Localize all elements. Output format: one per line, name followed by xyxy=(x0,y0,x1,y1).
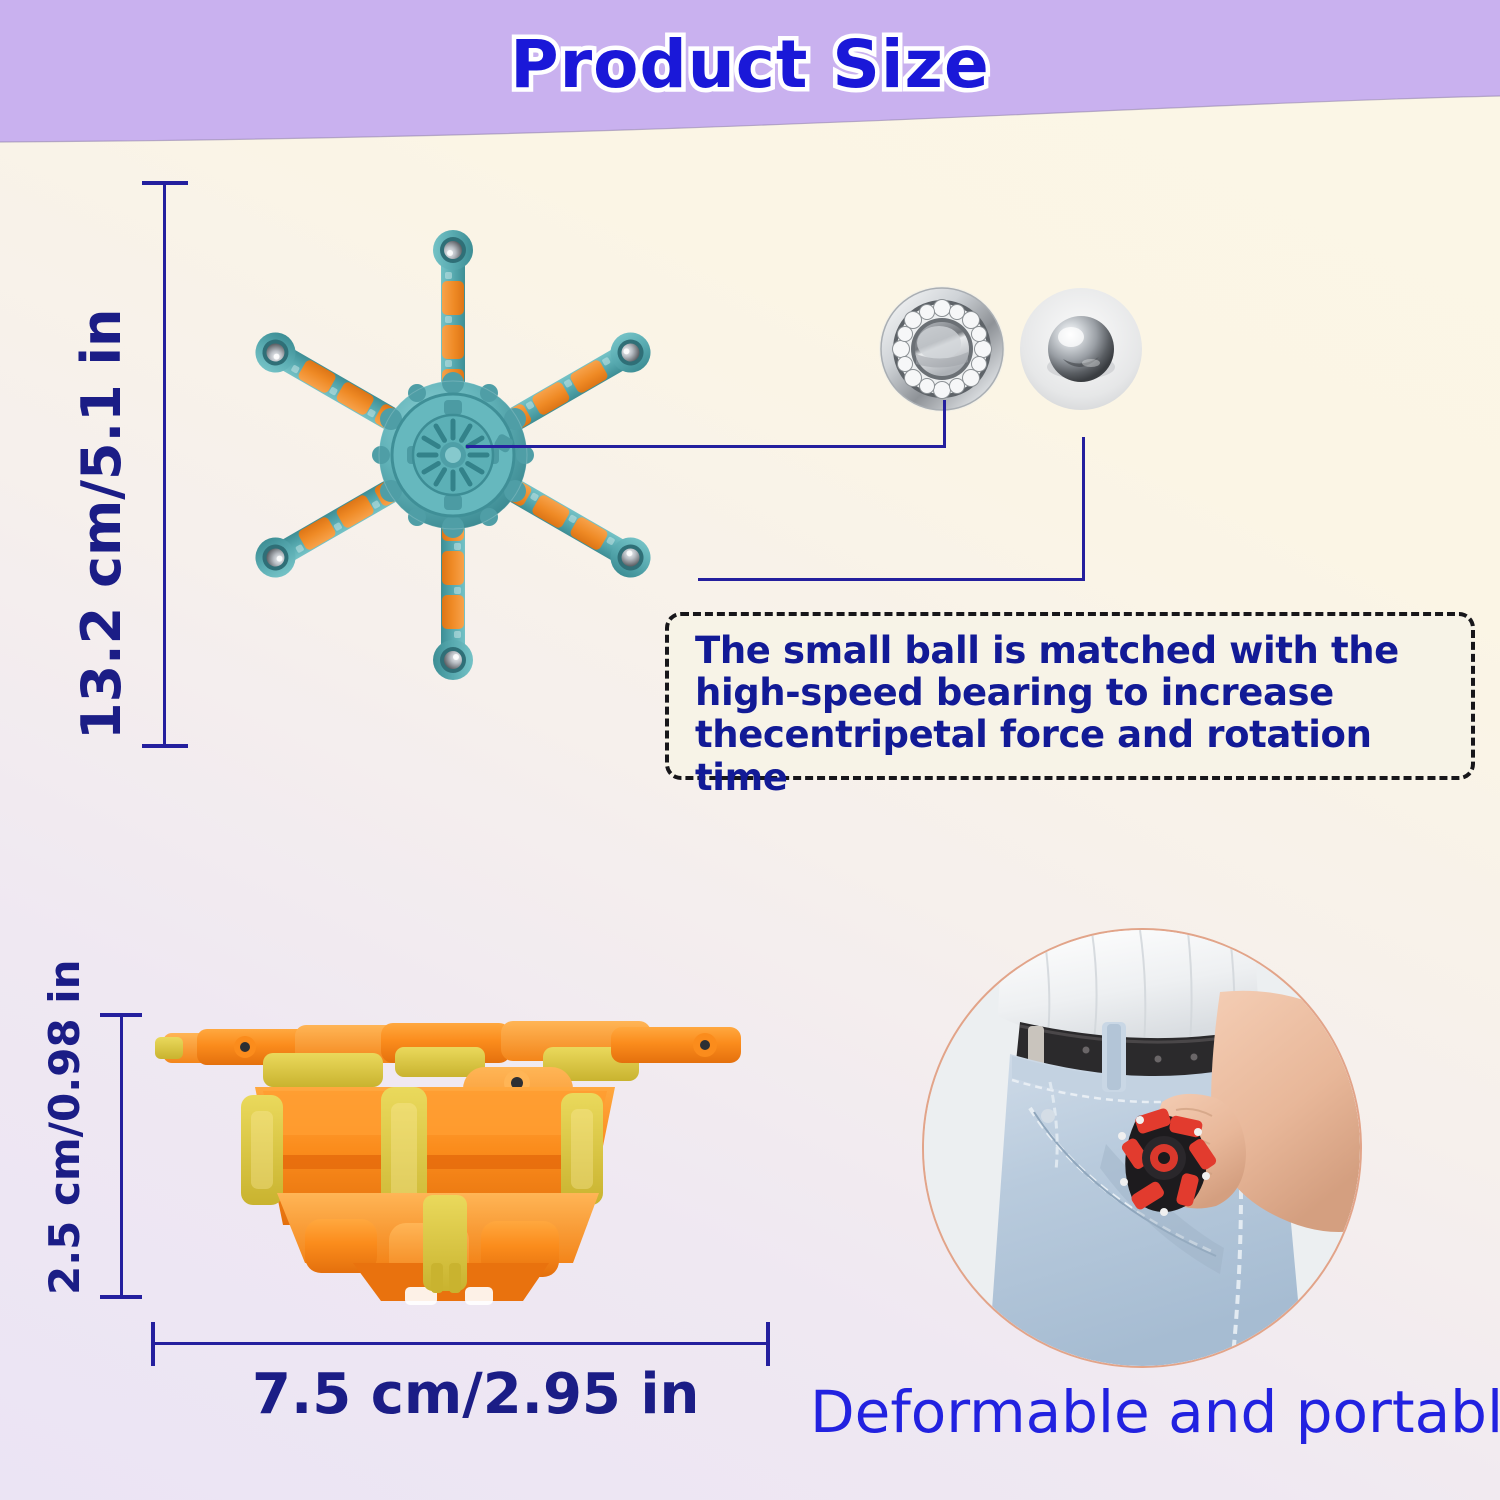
callout-line-3: thecentripetal force and rotation time xyxy=(695,714,1451,798)
spinner-folded-side-photo xyxy=(145,995,755,1320)
width-dimension-bottom-label: 7.5 cm/2.95 in xyxy=(252,1362,699,1427)
callout-line-1: The small ball is matched with the xyxy=(695,630,1451,672)
callout-line-2: high-speed bearing to increase xyxy=(695,672,1451,714)
infographic-page: Product Size 13.2 cm/5.1 in xyxy=(0,0,1500,1500)
callout-box: The small ball is matched with the high-… xyxy=(665,612,1475,780)
bottom-caption: Deformable and portable xyxy=(810,1378,1500,1446)
height-dimension-bottom-label: 2.5 cm/0.98 in xyxy=(40,959,89,1295)
spinner-in-pocket-photo xyxy=(922,928,1362,1368)
spinner-expanded-photo xyxy=(185,165,715,745)
height-dimension-top-label: 13.2 cm/5.1 in xyxy=(70,309,133,740)
ball-bearing-photo xyxy=(879,286,1005,412)
steel-ball-photo xyxy=(1019,287,1143,411)
page-title: Product Size xyxy=(0,26,1500,103)
